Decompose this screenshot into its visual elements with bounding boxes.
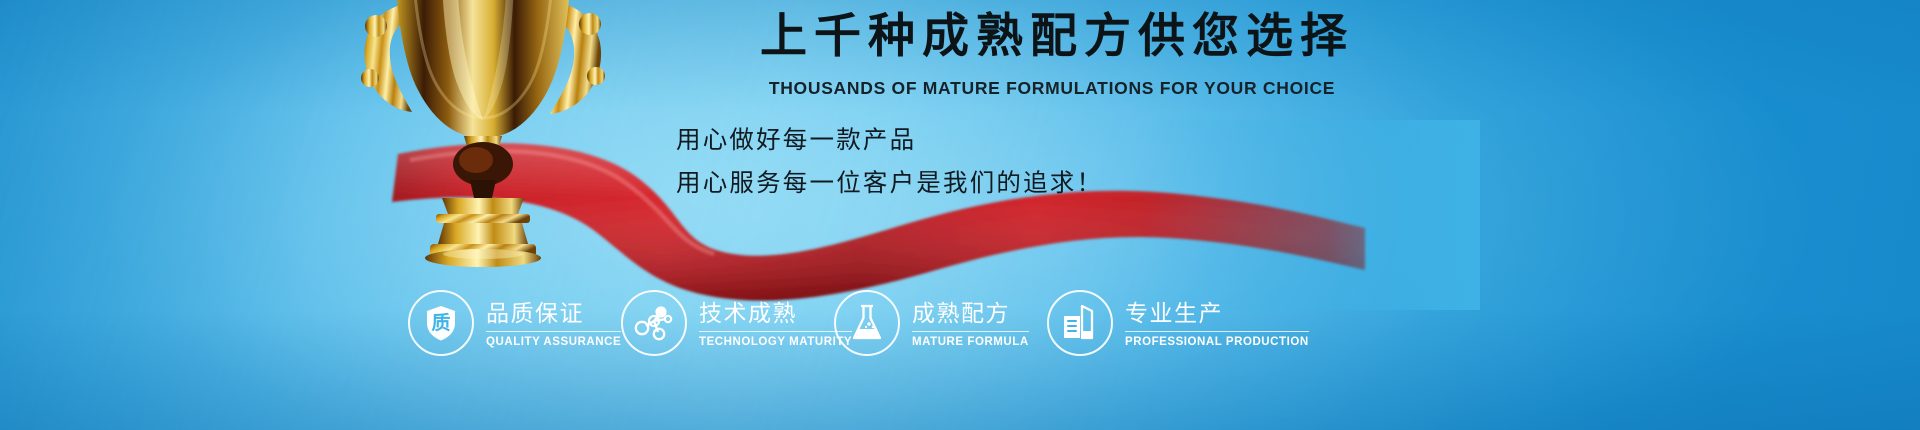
feature-label-en: TECHNOLOGY MATURITY: [699, 335, 852, 349]
feature-badge-mature-formula[interactable]: 成熟配方 MATURE FORMULA: [834, 290, 1039, 356]
feature-text: 技术成熟 TECHNOLOGY MATURITY: [699, 297, 852, 349]
feature-divider: [912, 331, 1029, 332]
gold-trophy-icon: [318, 0, 648, 272]
buildings-icon: [1047, 290, 1113, 356]
feature-badge-quality-assurance[interactable]: 质 品质保证 QUALITY ASSURANCE: [408, 290, 613, 356]
page-title: 上千种成熟配方供您选择: [672, 6, 1432, 66]
subtitle-english: THOUSANDS OF MATURE FORMULATIONS FOR YOU…: [672, 77, 1432, 99]
feature-divider: [699, 331, 852, 332]
feature-text: 专业生产 PROFESSIONAL PRODUCTION: [1125, 297, 1309, 349]
shield-icon-char: 质: [410, 313, 472, 333]
molecule-icon: [621, 290, 687, 356]
feature-label-cn: 成熟配方: [912, 299, 1029, 327]
tagline-line-1: 用心做好每一款产品: [676, 123, 1432, 158]
feature-divider: [486, 331, 621, 332]
feature-label-en: PROFESSIONAL PRODUCTION: [1125, 335, 1309, 349]
tagline-line-2: 用心服务每一位客户是我们的追求！: [676, 166, 1432, 201]
feature-text: 品质保证 QUALITY ASSURANCE: [486, 297, 621, 349]
flask-icon: [834, 290, 900, 356]
feature-label-en: QUALITY ASSURANCE: [486, 335, 621, 349]
feature-badge-technology-maturity[interactable]: 技术成熟 TECHNOLOGY MATURITY: [621, 290, 826, 356]
feature-badge-professional-production[interactable]: 专业生产 PROFESSIONAL PRODUCTION: [1047, 290, 1252, 356]
feature-text: 成熟配方 MATURE FORMULA: [912, 297, 1029, 349]
tagline-block: 用心做好每一款产品 用心服务每一位客户是我们的追求！: [672, 123, 1432, 201]
feature-label-cn: 品质保证: [486, 299, 621, 327]
feature-label-cn: 技术成熟: [699, 299, 852, 327]
shield-quality-icon: 质: [408, 290, 474, 356]
feature-label-cn: 专业生产: [1125, 299, 1309, 327]
feature-label-en: MATURE FORMULA: [912, 335, 1029, 349]
headline-block: 上千种成熟配方供您选择 THOUSANDS OF MATURE FORMULAT…: [672, 6, 1432, 209]
feature-divider: [1125, 331, 1309, 332]
promo-banner: 上千种成熟配方供您选择 THOUSANDS OF MATURE FORMULAT…: [0, 0, 1920, 430]
feature-badge-list: 质 品质保证 QUALITY ASSURANCE: [408, 278, 1508, 368]
